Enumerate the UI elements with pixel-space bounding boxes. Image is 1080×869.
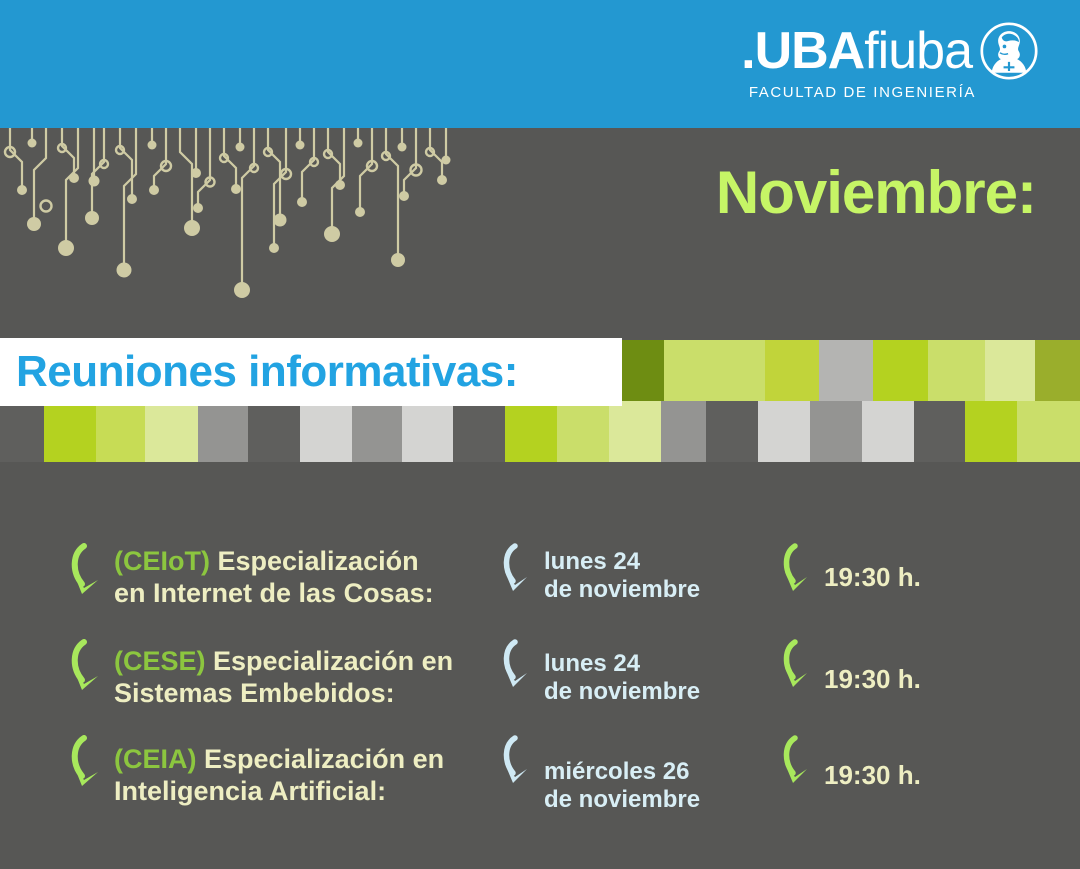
circuit-board-pattern-icon — [0, 128, 460, 333]
curved-arrow-down-right-green-icon — [68, 734, 112, 796]
stripe-cell — [1017, 401, 1080, 462]
program-date: miércoles 26 de noviembre — [544, 758, 700, 815]
stripe-cell — [664, 340, 765, 401]
program-name: (CESE) Especialización en Sistemas Embeb… — [114, 646, 453, 710]
program-code: (CEIoT) — [114, 546, 217, 576]
stripe-cell — [198, 401, 248, 462]
program-time-cell: 19:30 h. — [780, 540, 1012, 600]
stripe-cell — [402, 401, 454, 462]
curved-arrow-down-right-green-icon — [780, 638, 820, 696]
stripe-cell — [248, 401, 300, 462]
brand-uba-text: UBA — [755, 22, 865, 80]
banner-title: Reuniones informativas: — [16, 347, 518, 397]
athena-seal-icon — [980, 22, 1038, 80]
stripe-cell — [758, 401, 810, 462]
program-name-line2: en Internet de las Cosas: — [114, 578, 434, 608]
program-name-cell: (CEIA) Especialización en Inteligencia A… — [0, 732, 500, 808]
stripe-cell — [810, 401, 862, 462]
date-line2: de noviembre — [544, 786, 700, 813]
brand-wordmark: .UBAfiuba — [741, 25, 972, 77]
stripe-cell — [145, 401, 198, 462]
page-title: Noviembre: — [716, 158, 1036, 227]
program-row: (CEIA) Especialización en Inteligencia A… — [0, 732, 1080, 828]
stripe-cell — [0, 401, 44, 462]
program-name-line2: Inteligencia Artificial: — [114, 776, 386, 806]
curved-arrow-down-right-blue-icon — [500, 638, 540, 696]
stripe-cell — [914, 401, 966, 462]
date-line1: lunes 24 — [544, 650, 640, 677]
curved-arrow-down-right-green-icon — [780, 734, 820, 792]
stripe-cell — [96, 401, 146, 462]
curved-arrow-down-right-green-icon — [780, 542, 820, 600]
stripe-cell — [1035, 340, 1080, 401]
program-name: (CEIoT) Especialización en Internet de l… — [114, 546, 434, 610]
program-date-cell: miércoles 26 de noviembre — [500, 732, 780, 815]
program-time: 19:30 h. — [824, 760, 921, 791]
stripe-cell — [965, 401, 1017, 462]
program-list: (CEIoT) Especialización en Internet de l… — [0, 540, 1080, 828]
program-date-cell: lunes 24 de noviembre — [500, 540, 780, 605]
stripe-cell — [609, 401, 661, 462]
stripe-cell — [453, 401, 505, 462]
stripe-cell — [557, 401, 609, 462]
stripe-cell — [44, 401, 96, 462]
date-line1: miércoles 26 — [544, 758, 689, 785]
brand-row: .UBAfiuba — [741, 22, 1038, 80]
stripe-cell — [505, 401, 557, 462]
program-code: (CEIA) — [114, 744, 204, 774]
program-time: 19:30 h. — [824, 562, 921, 593]
brand-lockup: .UBAfiuba FACULTAD DE INGENIERÍA — [741, 22, 1038, 101]
program-name: (CEIA) Especialización en Inteligencia A… — [114, 744, 444, 808]
stripe-cell — [620, 340, 664, 401]
program-name-line1: Especialización en — [204, 744, 444, 774]
stripe-cell — [873, 340, 928, 401]
stripe-cell — [300, 401, 352, 462]
stripe-cell — [661, 401, 707, 462]
brand-prefix-dot: . — [741, 22, 754, 80]
curved-arrow-down-right-green-icon — [68, 638, 112, 700]
program-name-line1: Especialización — [217, 546, 418, 576]
program-date-cell: lunes 24 de noviembre — [500, 636, 780, 707]
program-code: (CESE) — [114, 646, 213, 676]
program-row: (CEIoT) Especialización en Internet de l… — [0, 540, 1080, 636]
stripe-cell — [706, 401, 758, 462]
stripe-cell — [862, 401, 914, 462]
program-row: (CESE) Especialización en Sistemas Embeb… — [0, 636, 1080, 732]
curved-arrow-down-right-blue-icon — [500, 734, 540, 792]
header-band: .UBAfiuba FACULTAD DE INGENIERÍA — [0, 0, 1080, 128]
banner-reuniones: Reuniones informativas: — [0, 338, 622, 406]
poster-root: .UBAfiuba FACULTAD DE INGENIERÍA Noviemb… — [0, 0, 1080, 869]
program-name-cell: (CESE) Especialización en Sistemas Embeb… — [0, 636, 500, 710]
program-time-cell: 19:30 h. — [780, 732, 1012, 792]
stripe-cell — [765, 340, 819, 401]
curved-arrow-down-right-blue-icon — [500, 542, 540, 600]
program-name-line1: Especialización en — [213, 646, 453, 676]
program-time: 19:30 h. — [824, 664, 921, 695]
stripe-cell — [819, 340, 873, 401]
stripe-cell — [985, 340, 1035, 401]
curved-arrow-down-right-green-icon — [68, 542, 112, 604]
program-time-cell: 19:30 h. — [780, 636, 1012, 696]
program-name-line2: Sistemas Embebidos: — [114, 678, 395, 708]
stripe-row-bottom — [0, 401, 1080, 462]
program-name-cell: (CEIoT) Especialización en Internet de l… — [0, 540, 500, 610]
brand-fiuba-text: fiuba — [864, 22, 972, 80]
date-line1: lunes 24 — [544, 548, 640, 575]
brand-subtitle: FACULTAD DE INGENIERÍA — [749, 84, 976, 101]
date-line2: de noviembre — [544, 678, 700, 705]
program-date: lunes 24 de noviembre — [544, 548, 700, 605]
stripe-cell — [928, 340, 985, 401]
date-line2: de noviembre — [544, 576, 700, 603]
stripe-cell — [352, 401, 402, 462]
program-date: lunes 24 de noviembre — [544, 650, 700, 707]
